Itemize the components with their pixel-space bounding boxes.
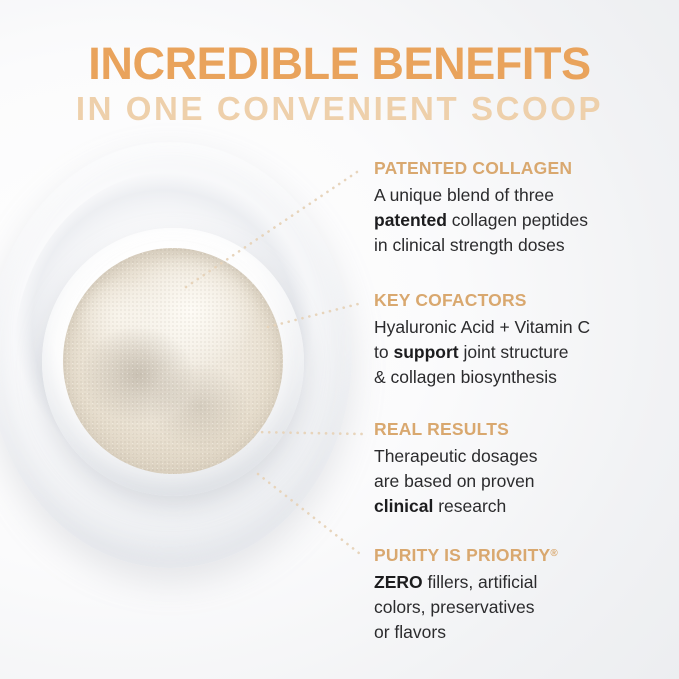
benefit-body-line: A unique blend of three bbox=[374, 183, 670, 208]
page-title: INCREDIBLE BENEFITS bbox=[0, 40, 679, 88]
benefit-body: Therapeutic dosagesare based on provencl… bbox=[374, 444, 670, 519]
body-text: or flavors bbox=[374, 622, 446, 642]
benefit-purity-is-priority: PURITY IS PRIORITY® ZERO fillers, artifi… bbox=[374, 543, 670, 645]
body-text: Therapeutic dosages bbox=[374, 446, 537, 466]
body-text: colors, preservatives bbox=[374, 597, 534, 617]
body-text: research bbox=[433, 496, 506, 516]
benefit-body-line: & collagen biosynthesis bbox=[374, 365, 670, 390]
benefit-body: ZERO fillers, artificialcolors, preserva… bbox=[374, 570, 670, 645]
body-text: are based on proven bbox=[374, 471, 535, 491]
benefit-body-line: Hyaluronic Acid + Vitamin C bbox=[374, 315, 670, 340]
body-text: & collagen biosynthesis bbox=[374, 367, 557, 387]
product-photo bbox=[0, 120, 390, 590]
bowl bbox=[42, 228, 304, 496]
benefit-body-line: are based on proven bbox=[374, 469, 670, 494]
benefit-body-line: ZERO fillers, artificial bbox=[374, 570, 670, 595]
benefit-heading: PATENTED COLLAGEN bbox=[374, 158, 670, 179]
benefit-body-line: in clinical strength doses bbox=[374, 233, 670, 258]
body-text: A unique blend of three bbox=[374, 185, 554, 205]
benefit-body-line: to support joint structure bbox=[374, 340, 670, 365]
benefit-body-line: colors, preservatives bbox=[374, 595, 670, 620]
benefit-heading: KEY COFACTORS bbox=[374, 290, 670, 311]
benefits-infographic: INCREDIBLE BENEFITS IN ONE CONVENIENT SC… bbox=[0, 0, 679, 679]
powder-texture bbox=[63, 248, 283, 474]
benefit-body-line: patented collagen peptides bbox=[374, 208, 670, 233]
benefit-body-line: clinical research bbox=[374, 494, 670, 519]
benefit-heading: PURITY IS PRIORITY® bbox=[374, 543, 670, 566]
benefit-patented-collagen: PATENTED COLLAGEN A unique blend of thre… bbox=[374, 158, 670, 258]
body-text: Hyaluronic Acid + Vitamin C bbox=[374, 317, 590, 337]
benefit-body-line: Therapeutic dosages bbox=[374, 444, 670, 469]
header: INCREDIBLE BENEFITS IN ONE CONVENIENT SC… bbox=[0, 40, 679, 127]
emphasis-text: support bbox=[393, 342, 458, 362]
body-text: to bbox=[374, 342, 393, 362]
benefit-real-results: REAL RESULTS Therapeutic dosagesare base… bbox=[374, 419, 670, 519]
registered-trademark-symbol: ® bbox=[550, 548, 558, 559]
body-text: joint structure bbox=[459, 342, 569, 362]
body-text: in clinical strength doses bbox=[374, 235, 565, 255]
benefit-key-cofactors: KEY COFACTORS Hyaluronic Acid + Vitamin … bbox=[374, 290, 670, 390]
body-text: collagen peptides bbox=[447, 210, 588, 230]
emphasis-text: clinical bbox=[374, 496, 433, 516]
bowl-interior bbox=[63, 248, 283, 474]
page-subtitle: IN ONE CONVENIENT SCOOP bbox=[0, 90, 679, 127]
benefit-heading: REAL RESULTS bbox=[374, 419, 670, 440]
body-text: fillers, artificial bbox=[423, 572, 538, 592]
emphasis-text: patented bbox=[374, 210, 447, 230]
benefit-body-line: or flavors bbox=[374, 620, 670, 645]
benefit-body: Hyaluronic Acid + Vitamin Cto support jo… bbox=[374, 315, 670, 390]
emphasis-text: ZERO bbox=[374, 572, 423, 592]
benefit-body: A unique blend of threepatented collagen… bbox=[374, 183, 670, 258]
